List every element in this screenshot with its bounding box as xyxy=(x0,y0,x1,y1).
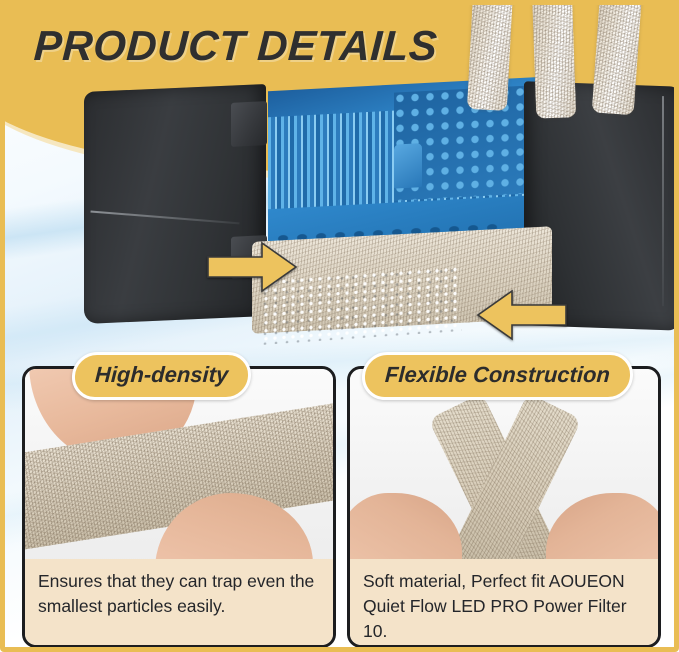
filter-floss-strip-2 xyxy=(532,0,577,119)
hand-right xyxy=(546,493,658,565)
hand-left xyxy=(350,493,462,565)
filter-floss-strip-1 xyxy=(467,0,513,111)
feature-card-high-density: Ensures that they can trap even the smal… xyxy=(22,366,336,648)
cartridge-knob xyxy=(394,143,422,188)
product-details-infographic: PRODUCT DETAILS xyxy=(0,0,679,652)
arrow-pointing-left-icon xyxy=(476,288,568,342)
card-caption-flexible-construction: Soft material, Perfect fit AOUEON Quiet … xyxy=(350,559,658,645)
filter-housing-tab-top xyxy=(231,101,267,147)
arrow-pointing-right-icon xyxy=(206,240,298,294)
badge-high-density: High-density xyxy=(71,352,253,400)
card-caption-high-density: Ensures that they can trap even the smal… xyxy=(25,559,333,645)
filter-floss-strip-3 xyxy=(592,0,643,115)
badge-flexible-construction: Flexible Construction xyxy=(361,352,634,400)
hero-product-photo xyxy=(0,84,679,346)
page-title: PRODUCT DETAILS xyxy=(33,22,439,70)
feature-card-flexible-construction: Soft material, Perfect fit AOUEON Quiet … xyxy=(347,366,661,648)
